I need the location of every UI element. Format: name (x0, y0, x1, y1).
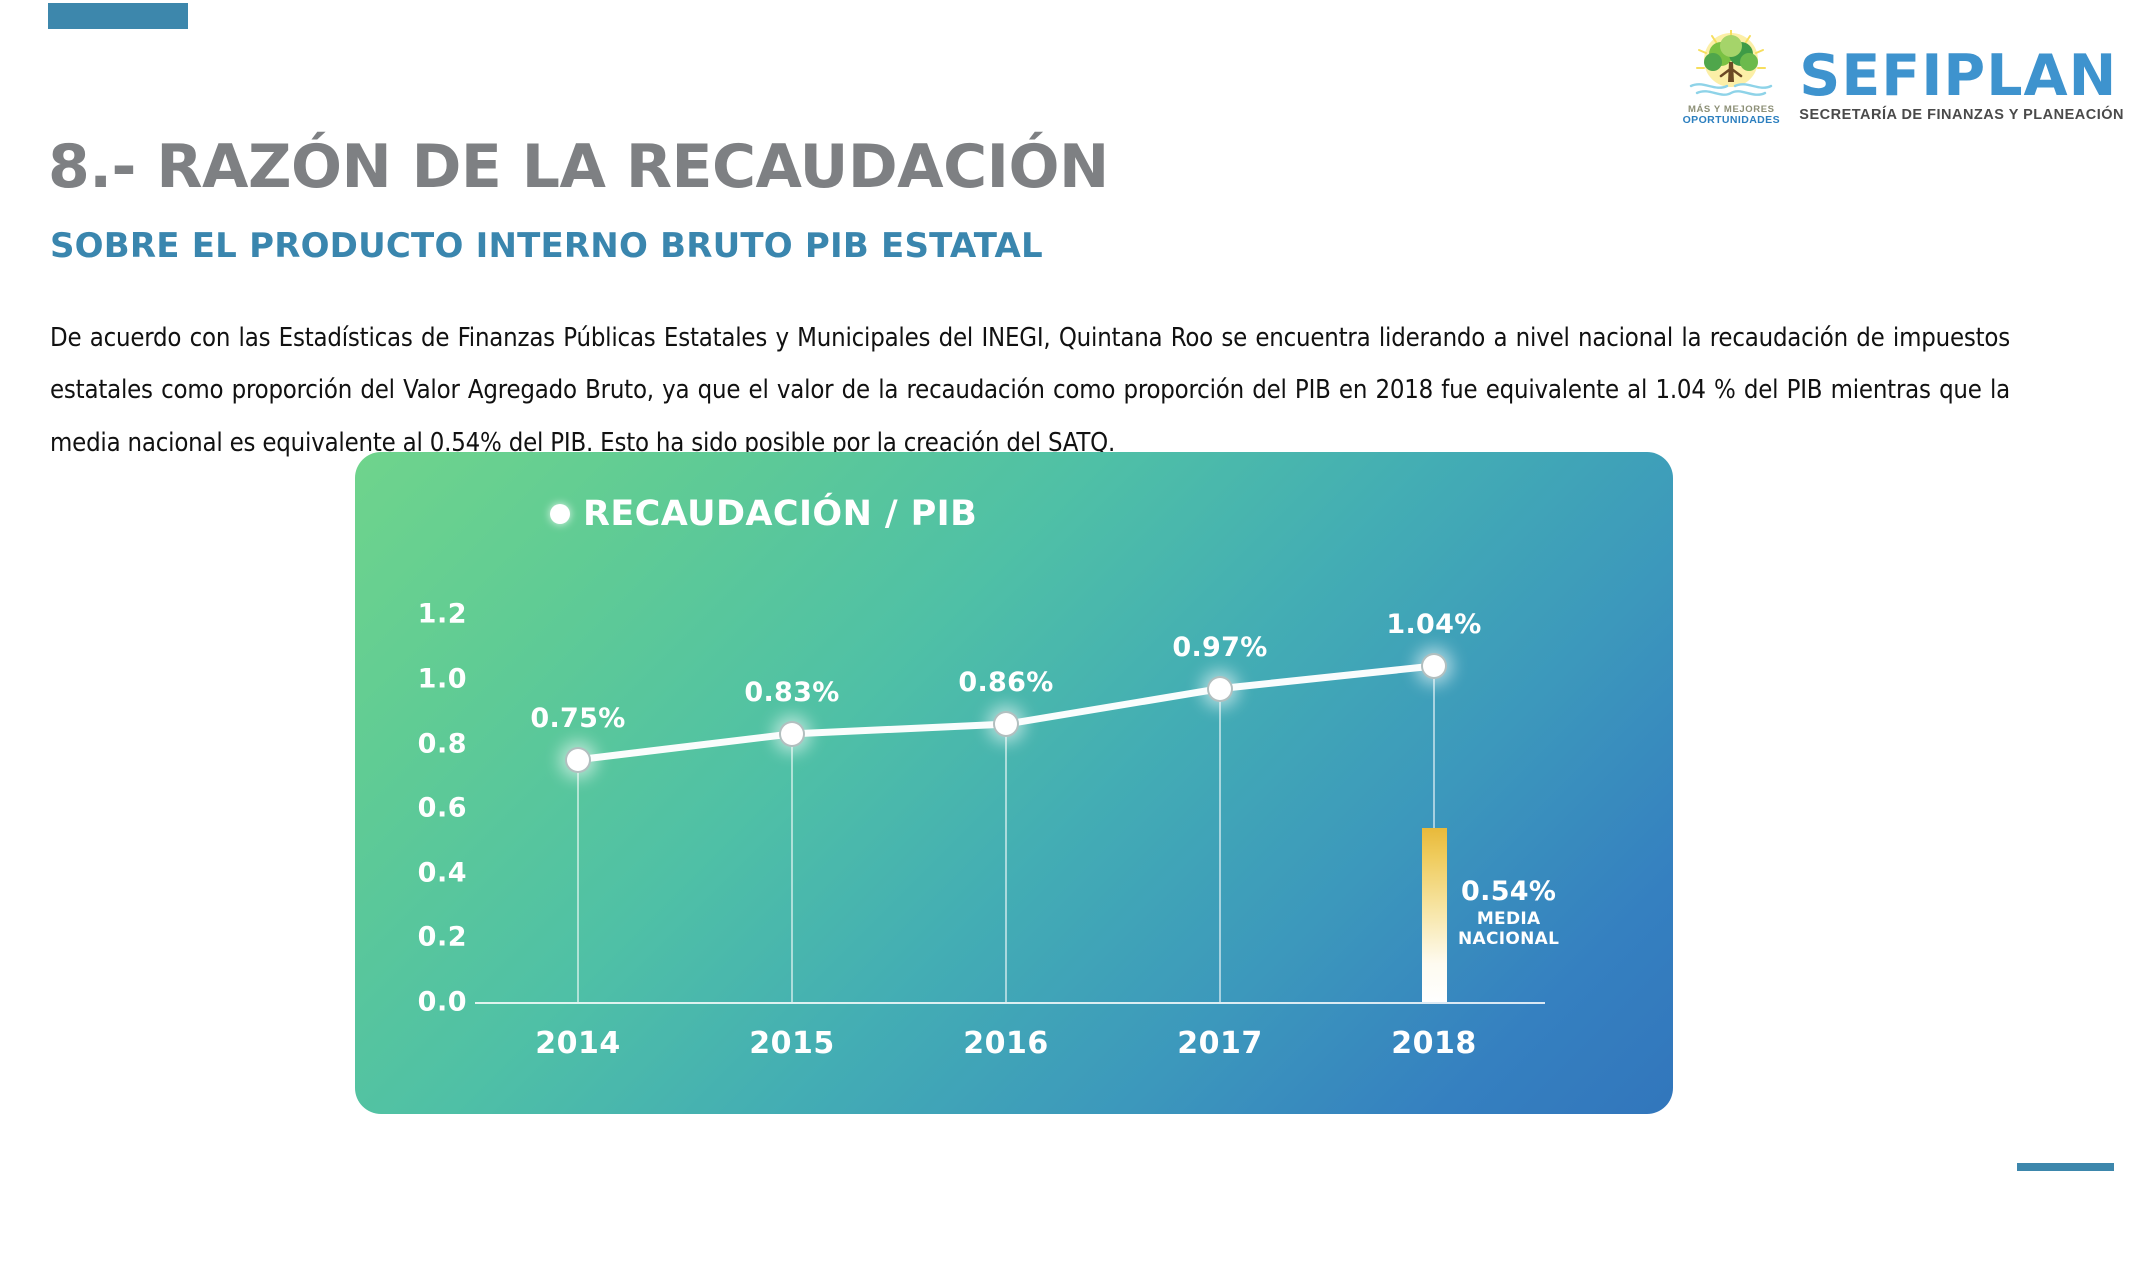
body-paragraph: De acuerdo con las Estadísticas de Finan… (50, 312, 2010, 470)
media-nacional-annotation: 0.54%MEDIANACIONAL (1458, 876, 1559, 950)
brand-name: SEFIPLAN (1799, 49, 2124, 103)
x-axis-tick-label: 2018 (1391, 1026, 1477, 1061)
data-point-marker[interactable] (993, 711, 1019, 737)
media-nacional-caption: MEDIANACIONAL (1458, 909, 1559, 950)
page-title: 8.- RAZÓN DE LA RECAUDACIÓN (48, 132, 1109, 202)
tree-emblem-icon: MÁS Y MEJORES OPORTUNIDADES (1677, 30, 1785, 138)
y-axis-tick-label: 1.0 (418, 663, 467, 694)
x-axis-tick-label: 2016 (963, 1026, 1049, 1061)
y-axis-tick-label: 0.8 (418, 728, 467, 759)
data-point-marker[interactable] (1207, 676, 1233, 702)
brand-subtitle: SECRETARÍA DE FINANZAS Y PLANEACIÓN (1799, 107, 2124, 123)
tree-emblem-art (1683, 30, 1779, 104)
media-nacional-value: 0.54% (1458, 876, 1559, 907)
emblem-caption: MÁS Y MEJORES OPORTUNIDADES (1683, 105, 1780, 126)
x-axis-tick-label: 2014 (535, 1026, 621, 1061)
top-left-accent-bar (48, 3, 188, 29)
data-point-dropline (1219, 689, 1221, 1002)
media-nacional-bar[interactable] (1422, 828, 1447, 1002)
x-axis-tick-label: 2015 (749, 1026, 835, 1061)
chart-card: RECAUDACIÓN / PIB 0.00.20.40.60.81.01.20… (355, 452, 1673, 1114)
data-point-marker[interactable] (565, 747, 591, 773)
brand-wordmark: SEFIPLAN SECRETARÍA DE FINANZAS Y PLANEA… (1799, 45, 2124, 122)
y-axis-tick-label: 0.0 (418, 987, 467, 1018)
data-point-label: 1.04% (1386, 609, 1481, 640)
y-axis-tick-label: 0.6 (418, 793, 467, 824)
y-axis-tick-label: 0.4 (418, 857, 467, 888)
emblem-caption-line2: OPORTUNIDADES (1683, 115, 1780, 126)
data-point-label: 0.86% (958, 667, 1053, 698)
x-axis-line (475, 1002, 1545, 1004)
data-point-label: 0.83% (744, 677, 839, 708)
data-point-marker[interactable] (779, 721, 805, 747)
x-axis-tick-label: 2017 (1177, 1026, 1263, 1061)
sefiplan-logo: MÁS Y MEJORES OPORTUNIDADES SEFIPLAN SEC… (1677, 30, 2124, 138)
data-point-label: 0.97% (1172, 632, 1267, 663)
chart-line-series (355, 452, 1673, 1114)
bottom-right-accent-line (2017, 1163, 2114, 1171)
y-axis: 0.00.20.40.60.81.01.2 (355, 452, 467, 1114)
y-axis-tick-label: 1.2 (418, 599, 467, 630)
data-point-marker[interactable] (1421, 653, 1447, 679)
data-point-dropline (791, 734, 793, 1002)
y-axis-tick-label: 0.2 (418, 922, 467, 953)
data-point-dropline (577, 760, 579, 1002)
data-point-dropline (1005, 724, 1007, 1002)
data-point-label: 0.75% (530, 703, 625, 734)
chart-plot-area: 0.00.20.40.60.81.01.20.75%20140.83%20150… (355, 452, 1673, 1114)
page-subtitle: SOBRE EL PRODUCTO INTERNO BRUTO PIB ESTA… (50, 226, 1043, 266)
